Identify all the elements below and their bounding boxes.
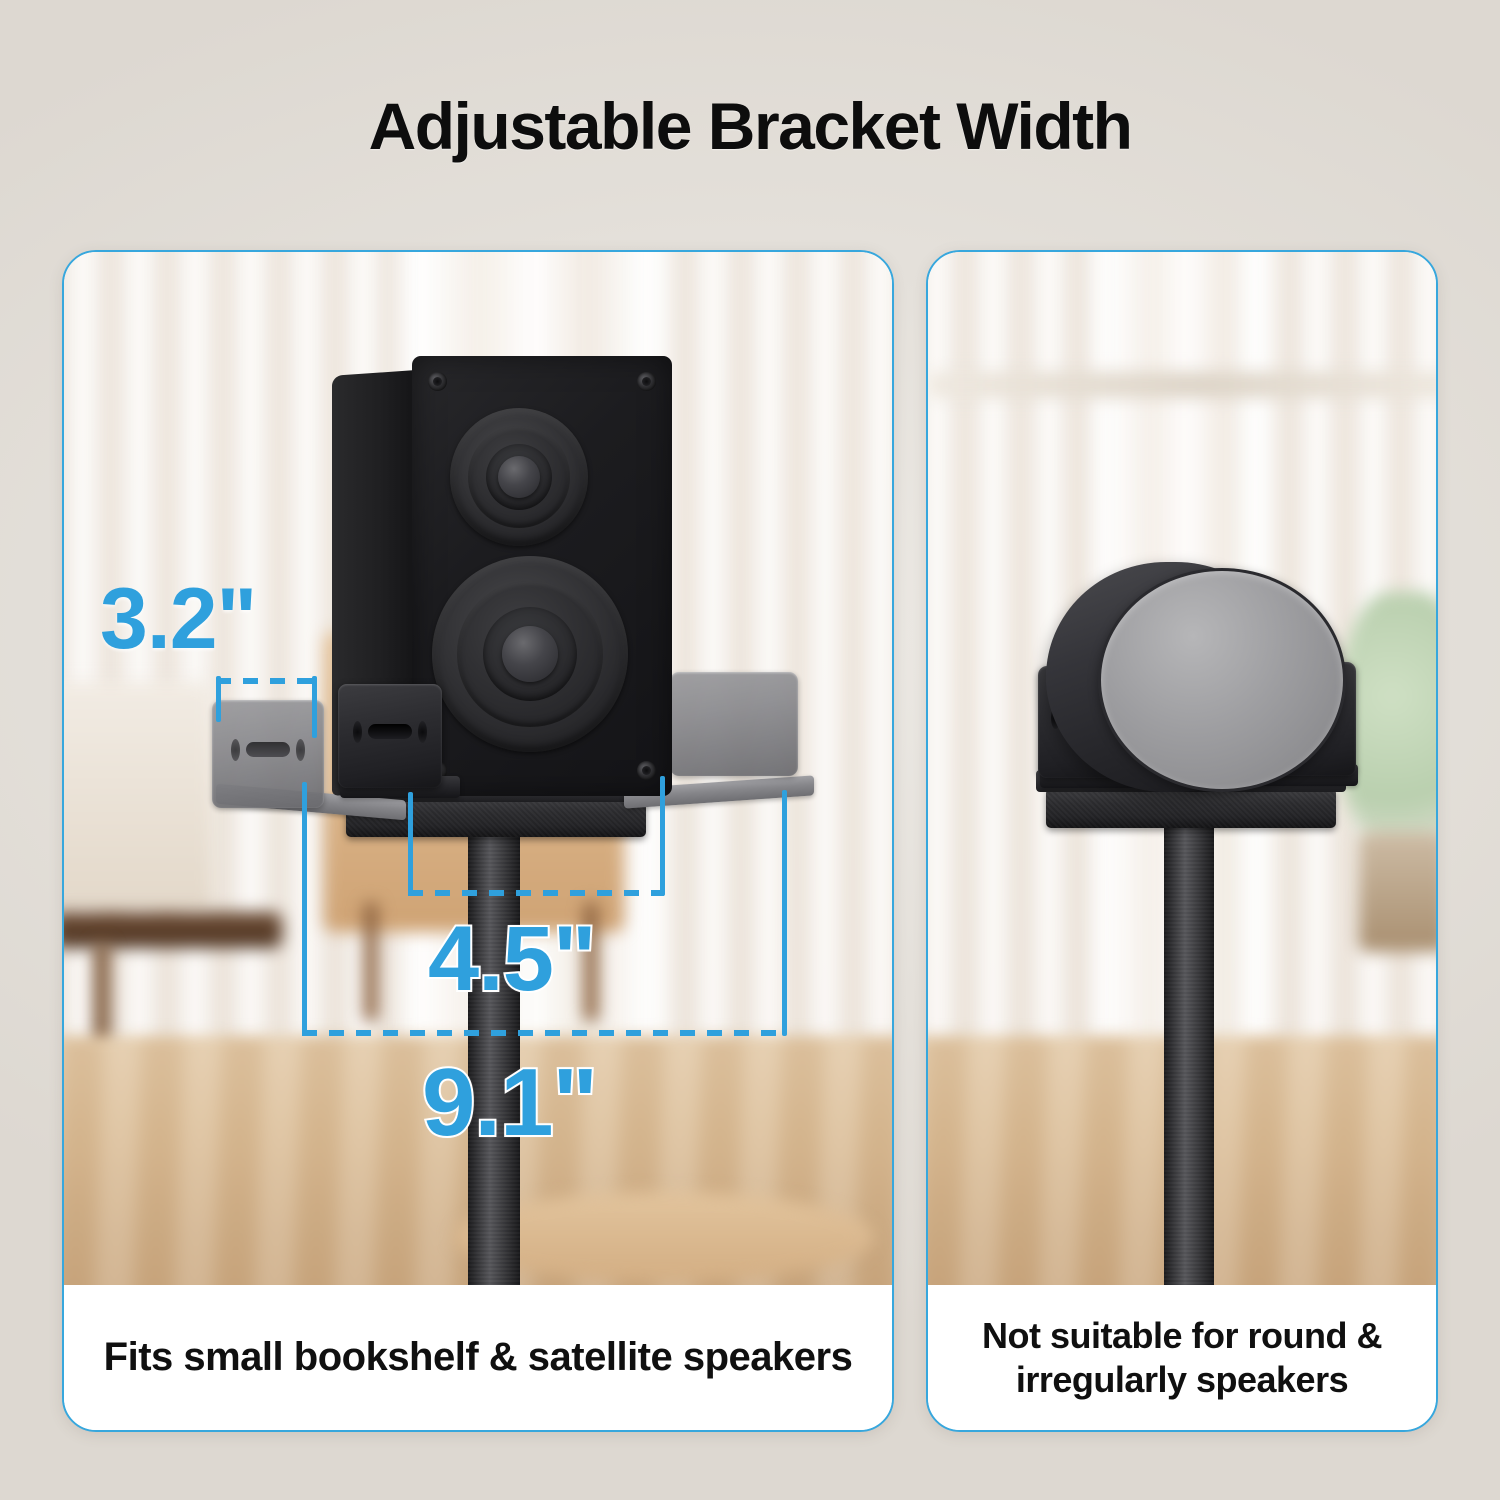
panel-not-suitable-round: Not suitable for round & irregularly spe… xyxy=(926,250,1438,1432)
speaker-front-baffle xyxy=(412,356,672,796)
measure-dash-32 xyxy=(216,678,316,684)
table-leg-blur xyxy=(364,902,378,1022)
pot-blur xyxy=(1358,832,1436,952)
measure-line-45-right xyxy=(660,776,665,896)
bracket-slot-icon xyxy=(231,739,305,761)
woofer-driver-icon xyxy=(432,556,628,752)
round-speaker-face xyxy=(1098,568,1346,792)
ghost-arm-plate-right xyxy=(670,672,798,776)
stand-pole-right xyxy=(1164,812,1214,1285)
screw-top-left xyxy=(428,372,447,391)
right-panel-photo xyxy=(928,252,1436,1285)
left-panel-photo: 3.2" 4.5" 9.1" xyxy=(64,252,892,1285)
measure-dash-91 xyxy=(302,1030,788,1036)
page-title: Adjustable Bracket Width xyxy=(0,88,1500,164)
measure-line-45-left xyxy=(408,792,413,896)
ghost-arm-plate-left xyxy=(212,700,324,808)
caption-right: Not suitable for round & irregularly spe… xyxy=(928,1285,1436,1430)
window-bar-blur xyxy=(928,372,1436,398)
stand-baseplate-right xyxy=(1046,788,1336,828)
caption-left: Fits small bookshelf & satellite speaker… xyxy=(64,1285,892,1430)
measure-label-32: 3.2" xyxy=(100,570,256,669)
measure-label-91: 9.1" xyxy=(422,1048,597,1158)
tweeter-driver-icon xyxy=(450,408,588,546)
sofa-blur xyxy=(64,682,214,912)
bracket-slot-icon xyxy=(353,721,427,743)
bracket-arm-plate-left xyxy=(338,684,442,788)
measure-line-91-left xyxy=(302,782,307,1034)
measure-label-45: 4.5" xyxy=(428,907,596,1012)
measure-line-91-right xyxy=(782,790,787,1036)
measure-dash-45 xyxy=(408,890,664,896)
screw-bottom-right xyxy=(637,761,656,780)
screw-top-right xyxy=(637,372,656,391)
measure-line-32-right xyxy=(312,676,317,738)
curtain-right xyxy=(644,252,892,1058)
panel-fits-bookshelf: 3.2" 4.5" 9.1" Fits small bookshelf & sa… xyxy=(62,250,894,1432)
